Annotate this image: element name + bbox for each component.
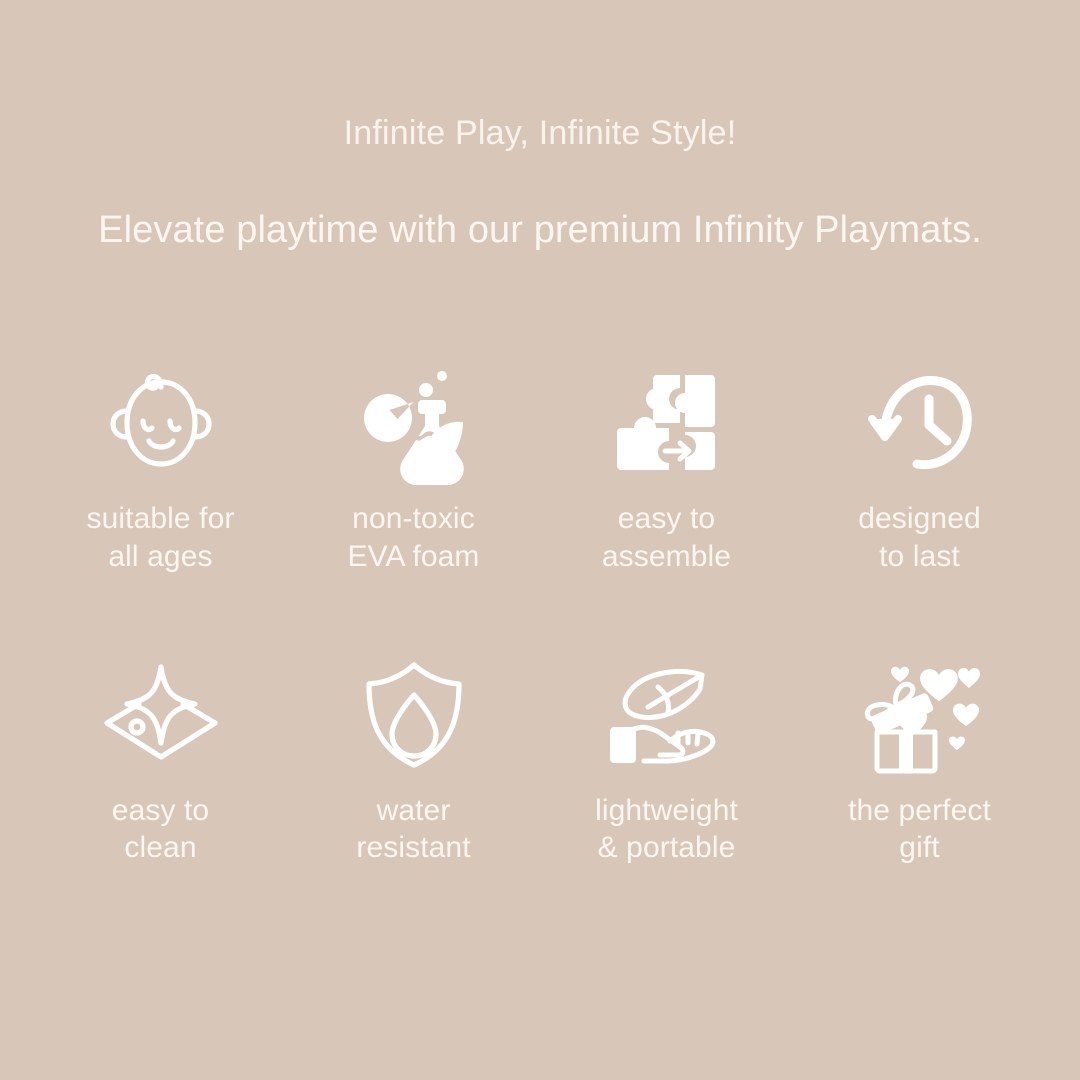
feature-item-suitable-for-all-ages: suitable for all ages bbox=[34, 362, 287, 576]
headline-secondary: Elevate playtime with our premium Infini… bbox=[0, 207, 1080, 255]
feature-grid: suitable for all ages non-toxic EVA foam bbox=[34, 362, 1046, 867]
feature-item-easy-to-clean: easy to clean bbox=[34, 654, 287, 868]
feature-label: suitable for all ages bbox=[87, 500, 235, 576]
non-toxic-flask-icon bbox=[350, 362, 478, 484]
feature-item-lightweight-portable: lightweight & portable bbox=[540, 654, 793, 868]
headline-block: Infinite Play, Infinite Style! Elevate p… bbox=[0, 0, 1080, 254]
clock-history-icon bbox=[856, 362, 984, 484]
feature-label: the perfect gift bbox=[848, 792, 991, 868]
hand-feather-icon bbox=[603, 654, 731, 776]
shield-droplet-icon bbox=[350, 654, 478, 776]
feature-label: designed to last bbox=[858, 500, 981, 576]
feature-item-designed-to-last: designed to last bbox=[793, 362, 1046, 576]
feature-label: non-toxic EVA foam bbox=[348, 500, 480, 576]
promo-poster: Infinite Play, Infinite Style! Elevate p… bbox=[0, 0, 1080, 1080]
puzzle-pieces-icon bbox=[603, 362, 731, 484]
feature-label: easy to assemble bbox=[602, 500, 731, 576]
feature-label: easy to clean bbox=[112, 792, 209, 868]
feature-item-easy-to-assemble: easy to assemble bbox=[540, 362, 793, 576]
feature-item-water-resistant: water resistant bbox=[287, 654, 540, 868]
feature-item-the-perfect-gift: the perfect gift bbox=[793, 654, 1046, 868]
feature-label: lightweight & portable bbox=[595, 792, 738, 868]
gift-hearts-icon bbox=[856, 654, 984, 776]
feature-label: water resistant bbox=[356, 792, 470, 868]
baby-face-icon bbox=[97, 362, 225, 484]
headline-primary: Infinite Play, Infinite Style! bbox=[0, 112, 1080, 155]
sparkle-mat-icon bbox=[97, 654, 225, 776]
feature-item-non-toxic-eva-foam: non-toxic EVA foam bbox=[287, 362, 540, 576]
